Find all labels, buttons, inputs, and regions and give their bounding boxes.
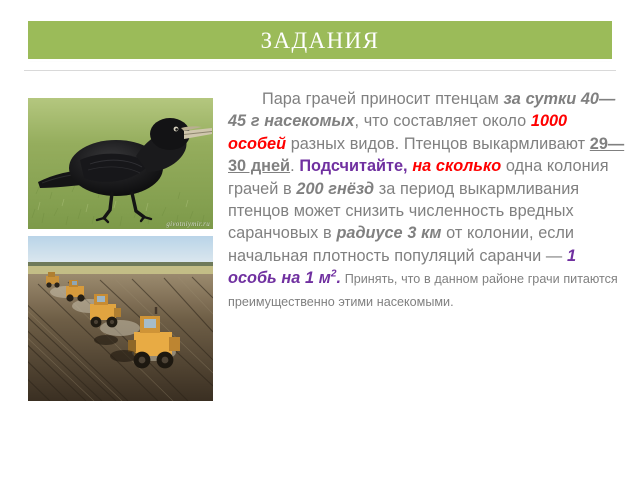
task-seg-7: . bbox=[290, 157, 299, 175]
task-seg-1: Пара грачей приносит птенцам bbox=[262, 90, 504, 108]
rook-illustration bbox=[28, 98, 213, 229]
title-banner-fill: ЗАДАНИЯ bbox=[28, 21, 612, 59]
image-rook: givotniymir.ru bbox=[28, 98, 213, 229]
tractor-field-illustration bbox=[28, 236, 213, 401]
image-tractor-field bbox=[28, 236, 213, 401]
title-divider bbox=[24, 70, 616, 71]
task-seg-radius-3km: радиусе 3 км bbox=[336, 224, 441, 242]
task-seg-200-nests: 200 гнёзд bbox=[296, 180, 374, 198]
task-seg-calculate: Подсчитайте, bbox=[299, 157, 407, 175]
task-text-block: Пара грачей приносит птенцам за сутки 40… bbox=[228, 88, 626, 312]
task-seg-by-how-much: на сколько bbox=[412, 157, 501, 175]
slide-title-banner: ЗАДАНИЯ bbox=[28, 21, 612, 59]
task-seg-5: разных видов. Птенцов выкармливают bbox=[286, 135, 590, 153]
task-seg-3: , что составляет около bbox=[354, 112, 530, 130]
image-watermark: givotniymir.ru bbox=[166, 220, 210, 228]
page-title: ЗАДАНИЯ bbox=[261, 29, 380, 52]
